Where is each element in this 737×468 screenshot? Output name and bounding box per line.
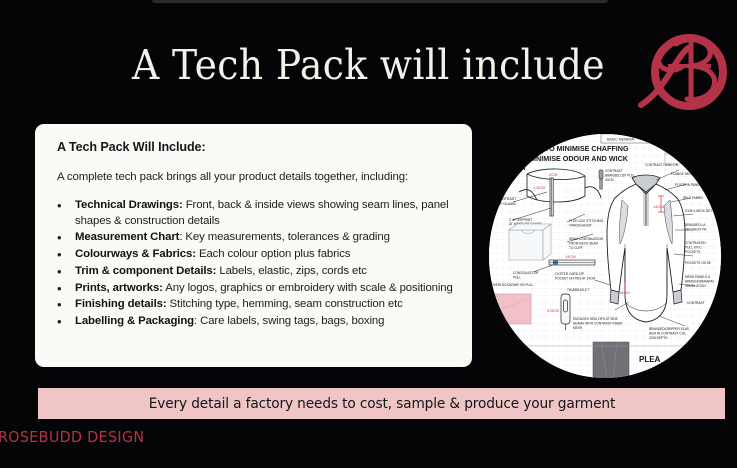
list-item-term: Measurement Chart [75, 231, 179, 243]
svg-text:CONTRAST: CONTRAST [605, 169, 623, 173]
list-item: Technical Drawings: Front, back & inside… [51, 198, 455, 229]
list-item-desc: Labels, elastic, zips, cords etc [216, 265, 367, 277]
svg-text:TO CUFF: TO CUFF [569, 246, 583, 250]
list-item: Measurement Chart: Key measurements, tol… [51, 230, 455, 246]
list-item-desc: : Care labels, swing tags, bags, boxing [194, 315, 384, 327]
svg-text:ENGAGED HEM ZIPS AT SIDE: ENGAGED HEM ZIPS AT SIDE [573, 317, 618, 321]
window-top-strip [152, 0, 608, 3]
svg-text:POCKETS: POCKETS [685, 250, 700, 254]
svg-text:GYM V-NECK DET: GYM V-NECK DET [685, 209, 712, 213]
svg-text:14CM: 14CM [565, 254, 576, 259]
list-item-term: Trim & component Details: [75, 265, 216, 277]
svg-text:CONTRAST HAND ON: CONTRAST HAND ON [645, 163, 679, 167]
svg-text:CONTRAST: CONTRAST [687, 301, 705, 305]
svg-text:2CM DEPTH: 2CM DEPTH [649, 336, 668, 340]
list-item: Finishing details: Stitching type, hemmi… [51, 297, 455, 313]
svg-text:FLATLOCK STITCHING: FLATLOCK STITCHING [569, 219, 604, 223]
svg-text:14CM: 14CM [653, 204, 664, 209]
svg-text:ZIP GUARD: ZIP GUARD [497, 202, 516, 206]
caption-text: Every detail a factory needs to cost, sa… [148, 396, 614, 412]
svg-text:1.5CM: 1.5CM [533, 185, 545, 190]
caption-banner: Every detail a factory needs to cost, sa… [38, 388, 725, 419]
list-item-term: Prints, artworks: [75, 282, 163, 294]
svg-text:FROM NECK SEAM: FROM NECK SEAM [569, 242, 598, 246]
svg-text:16CM: 16CM [619, 290, 630, 295]
svg-text:PULL ON C: PULL ON C [685, 246, 702, 250]
svg-text:CONTRAST: CONTRAST [497, 197, 517, 201]
svg-text:PLEA: PLEA [639, 355, 661, 364]
list-item-term: Colourways & Fabrics: [75, 248, 196, 260]
svg-text:BRANDED/GRIPPER ELAS: BRANDED/GRIPPER ELAS [649, 327, 689, 331]
list-item: Prints, artworks: Any logos, graphics or… [51, 281, 455, 297]
footer-brand-name: ROSEBUDD DESIGN [0, 428, 144, 446]
tech-pack-spec-sheet-photo: BASIC MEMBER OLOGY TO MINIMISE CHAFFING … [489, 134, 721, 378]
svg-text:POCKETS ON SE: POCKETS ON SE [685, 261, 711, 265]
svg-text:CONTRASTIN: CONTRASTIN [685, 241, 706, 245]
tech-pack-content-card: A Tech Pack Will Include: A complete tec… [35, 124, 472, 367]
svg-text:OLOGY TO MINIMISE CHAFFING: OLOGY TO MINIMISE CHAFFING [517, 144, 629, 153]
list-item: Trim & component Details: Labels, elasti… [51, 264, 455, 280]
svg-text:BRANDED LA: BRANDED LA [685, 223, 706, 227]
list-item-term: Labelling & Packaging [75, 315, 194, 327]
list-item-term: Technical Drawings: [75, 199, 183, 211]
page-title: A Tech Pack will include [29, 44, 707, 87]
svg-text:BRANDED ZIP PULL: BRANDED ZIP PULL [605, 174, 635, 178]
svg-text:ARMS/UNDERARM: ARMS/UNDERARM [685, 280, 714, 284]
svg-text:OVERLOCKDOWN ON PULL: OVERLOCKDOWN ON PULL [491, 283, 534, 287]
svg-text:MESH PANELS A: MESH PANELS A [685, 275, 711, 279]
slide-canvas: A Tech Pack will include A Tech Pack Wil… [0, 0, 737, 468]
svg-text:OYSTER CARD ZIP: OYSTER CARD ZIP [555, 272, 584, 276]
svg-text:FLANGE NECK: FLANGE NECK [671, 172, 694, 176]
svg-text:BASIC MEMBER: BASIC MEMBER [607, 138, 635, 142]
card-heading: A Tech Pack Will Include: [57, 140, 455, 154]
svg-text:ON CHEST PA: ON CHEST PA [685, 228, 707, 232]
list-item-desc: Each colour option plus fabrics [196, 248, 350, 260]
svg-text:SELF FABRIC: SELF FABRIC [683, 196, 704, 200]
svg-text:FLOOR IN PANEL: FLOOR IN PANEL [675, 183, 701, 187]
list-item: Colourways & Fabrics: Each colour option… [51, 247, 455, 263]
list-item-desc: : Key measurements, tolerances & grading [179, 231, 389, 243]
svg-text:IC TO MINIMISE ODOUR AND WICK: IC TO MINIMISE ODOUR AND WICK [507, 154, 629, 163]
svg-text:PULL: PULL [513, 276, 521, 280]
svg-text:SEAM CONTINUATION: SEAM CONTINUATION [569, 237, 604, 241]
svg-text:G: G [511, 174, 517, 181]
svg-text:CONCEALED ZIP: CONCEALED ZIP [513, 271, 539, 275]
svg-text:TCH: TCH [511, 165, 525, 172]
list-item-desc: Stitching type, hemming, seam constructi… [167, 298, 403, 310]
svg-text:THROUGHOUT: THROUGHOUT [569, 224, 592, 228]
list-item-desc: Any logos, graphics or embroidery with s… [163, 282, 453, 294]
svg-text:3.5CM: 3.5CM [547, 308, 559, 313]
list-item: Labelling & Packaging: Care labels, swin… [51, 314, 455, 330]
svg-text:THUMBHOLE T: THUMBHOLE T [567, 288, 590, 292]
tech-pack-bullet-list: Technical Drawings: Front, back & inside… [51, 198, 455, 330]
svg-text:HEM IN CONTRAST COL: HEM IN CONTRAST COL [649, 332, 686, 336]
list-item-term: Finishing details: [75, 298, 167, 310]
svg-text:40CM: 40CM [605, 178, 614, 182]
svg-text:POCKET ON RHS AT 14CM: POCKET ON RHS AT 14CM [555, 277, 596, 281]
svg-text:VENTILATION: VENTILATION [685, 284, 706, 288]
svg-text:SEAMS WITH CONTRAST INNER: SEAMS WITH CONTRAST INNER [573, 322, 623, 326]
card-lede: A complete tech pack brings all your pro… [57, 171, 455, 183]
svg-text:MESH: MESH [573, 326, 583, 330]
svg-text:2CM: 2CM [549, 172, 557, 177]
